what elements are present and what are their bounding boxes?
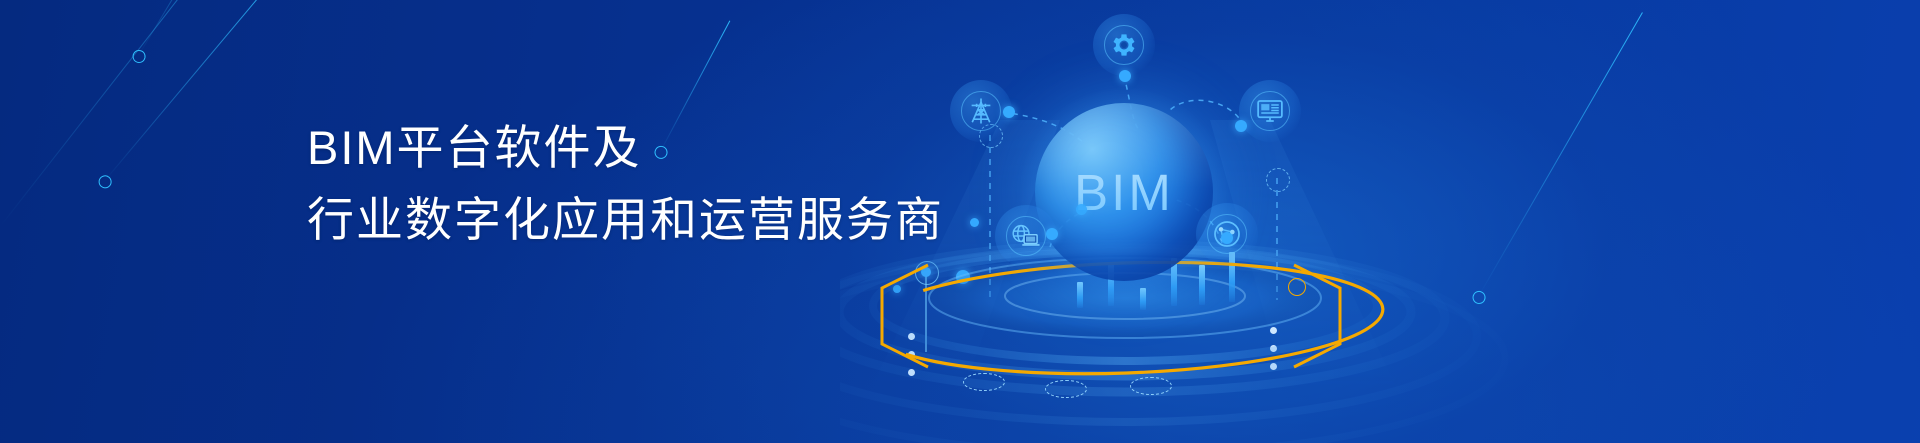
stem-ring-right bbox=[1266, 168, 1290, 192]
track-marker-2 bbox=[1045, 380, 1087, 398]
hero-banner: BIM平台软件及 行业数字化应用和运营服务商 bbox=[0, 0, 1920, 443]
monitor-connector-dot bbox=[1235, 120, 1247, 132]
globe-laptop-icon bbox=[1010, 220, 1042, 252]
gear-icon bbox=[1109, 30, 1139, 60]
orbit-track bbox=[840, 240, 1620, 443]
network-node-connector-dot bbox=[1221, 232, 1233, 244]
gear-connector-dot bbox=[1119, 70, 1131, 82]
float-dot-4 bbox=[970, 218, 979, 227]
power-tower-connector-dot bbox=[1003, 106, 1015, 118]
bracket-left bbox=[876, 262, 932, 370]
gear-icon-bubble[interactable] bbox=[1093, 14, 1155, 76]
orbit-dot-right bbox=[1288, 278, 1306, 296]
globe-laptop-connector-dot bbox=[1046, 228, 1058, 240]
bim-illustration: BIM bbox=[840, 0, 1620, 443]
power-tower-icon bbox=[966, 96, 996, 126]
monitor-icon bbox=[1255, 96, 1285, 126]
sphere-accent-dot bbox=[1076, 204, 1087, 215]
track-marker-3 bbox=[1130, 377, 1172, 395]
bim-label: BIM bbox=[1035, 103, 1213, 281]
monitor-icon-bubble[interactable] bbox=[1239, 80, 1301, 142]
track-marker-1 bbox=[963, 373, 1005, 391]
